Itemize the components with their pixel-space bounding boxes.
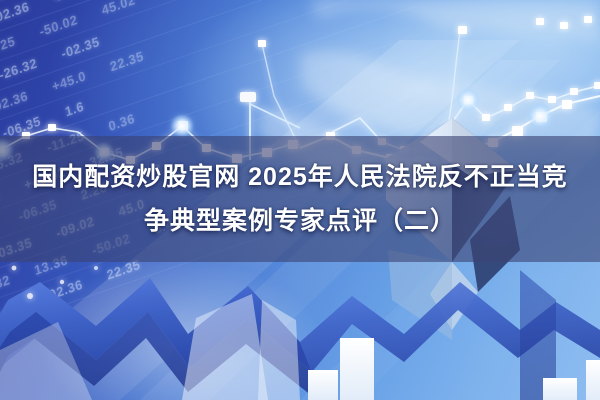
- bar-chart-icon: [308, 338, 600, 400]
- title-line-1: 国内配资炒股官网 2025年人民法院反不正当竞: [32, 157, 568, 197]
- banner-image: -06.35-11.25+45.0221.36-09.02-08.35-02.3…: [0, 0, 600, 400]
- title-line-2: 争典型案例专家点评（二）: [144, 201, 456, 241]
- banner-title: 国内配资炒股官网 2025年人民法院反不正当竞 争典型案例专家点评（二）: [0, 136, 600, 262]
